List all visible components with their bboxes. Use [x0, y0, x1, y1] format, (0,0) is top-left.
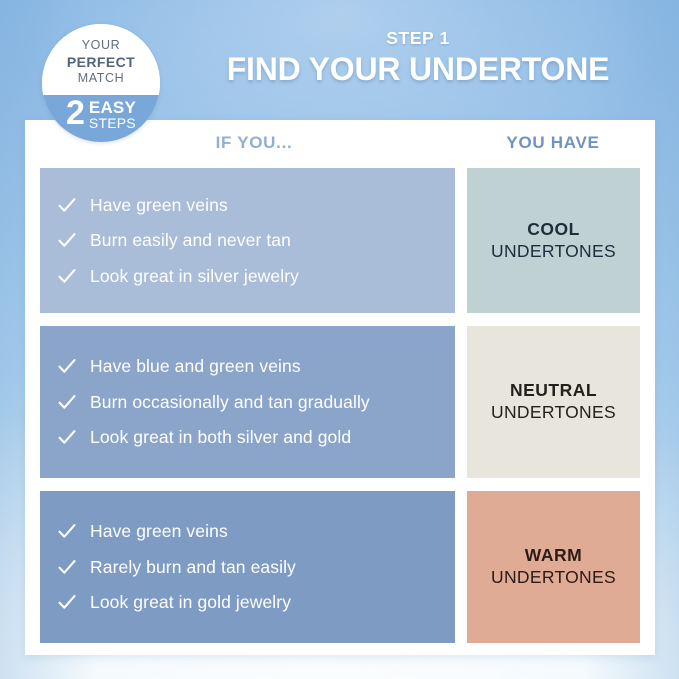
criteria-text: Rarely burn and tan easily	[90, 556, 296, 578]
criteria-text: Burn easily and never tan	[90, 229, 291, 251]
criteria-text: Burn occasionally and tan gradually	[90, 391, 370, 413]
badge-line-your: YOUR	[82, 38, 121, 54]
undertone-word: UNDERTONES	[491, 567, 616, 589]
checkmark-icon	[58, 557, 76, 578]
undertone-name: COOL	[527, 219, 580, 241]
list-item: Have green veins	[58, 520, 441, 542]
checkmark-icon	[58, 230, 76, 251]
criteria-text: Look great in gold jewelry	[90, 591, 291, 613]
criteria-text: Look great in silver jewelry	[90, 265, 299, 287]
undertone-swatch-warm: WARM UNDERTONES	[467, 491, 640, 643]
criteria-text: Have green veins	[90, 194, 228, 216]
table-row: Have blue and green veins Burn occasiona…	[40, 326, 640, 478]
undertone-swatch-cool: COOL UNDERTONES	[467, 168, 640, 313]
badge-easy-label: EASY	[89, 99, 136, 116]
list-item: Burn easily and never tan	[58, 229, 441, 251]
undertone-word: UNDERTONES	[491, 402, 616, 424]
page-title: FIND YOUR UNDERTONE	[175, 52, 661, 87]
your-perfect-match-badge: YOUR PERFECT MATCH 2 EASY STEPS	[42, 24, 160, 142]
criteria-box-neutral: Have blue and green veins Burn occasiona…	[40, 326, 455, 478]
undertone-name: NEUTRAL	[510, 380, 597, 402]
checkmark-icon	[58, 392, 76, 413]
table-row: Have green veins Burn easily and never t…	[40, 168, 640, 313]
checkmark-icon	[58, 592, 76, 613]
undertone-comparison-grid: Have green veins Burn easily and never t…	[40, 168, 640, 643]
badge-top-half: YOUR PERFECT MATCH	[42, 24, 160, 95]
criteria-text: Have green veins	[90, 520, 228, 542]
step-label: STEP 1	[175, 28, 661, 49]
list-item: Look great in silver jewelry	[58, 265, 441, 287]
badge-line-perfect: PERFECT	[67, 54, 135, 72]
badge-bottom-half: 2 EASY STEPS	[42, 95, 160, 142]
criteria-box-cool: Have green veins Burn easily and never t…	[40, 168, 455, 313]
criteria-text: Have blue and green veins	[90, 355, 301, 377]
list-item: Rarely burn and tan easily	[58, 556, 441, 578]
undertone-word: UNDERTONES	[491, 241, 616, 263]
checkmark-icon	[58, 195, 76, 216]
table-row: Have green veins Rarely burn and tan eas…	[40, 491, 640, 643]
badge-step-count: 2	[66, 99, 85, 128]
header-title-block: STEP 1 FIND YOUR UNDERTONE	[175, 28, 661, 87]
list-item: Look great in both silver and gold	[58, 426, 441, 448]
badge-steps-label: STEPS	[89, 116, 136, 130]
checkmark-icon	[58, 521, 76, 542]
list-item: Have green veins	[58, 194, 441, 216]
criteria-box-warm: Have green veins Rarely burn and tan eas…	[40, 491, 455, 643]
undertone-name: WARM	[525, 545, 582, 567]
badge-line-match: MATCH	[78, 71, 125, 87]
checkmark-icon	[58, 356, 76, 377]
list-item: Look great in gold jewelry	[58, 591, 441, 613]
checkmark-icon	[58, 427, 76, 448]
checkmark-icon	[58, 266, 76, 287]
criteria-text: Look great in both silver and gold	[90, 426, 351, 448]
badge-steps-group: EASY STEPS	[89, 99, 136, 130]
undertone-swatch-neutral: NEUTRAL UNDERTONES	[467, 326, 640, 478]
list-item: Burn occasionally and tan gradually	[58, 391, 441, 413]
list-item: Have blue and green veins	[58, 355, 441, 377]
column-header-you-have: YOU HAVE	[466, 133, 640, 153]
